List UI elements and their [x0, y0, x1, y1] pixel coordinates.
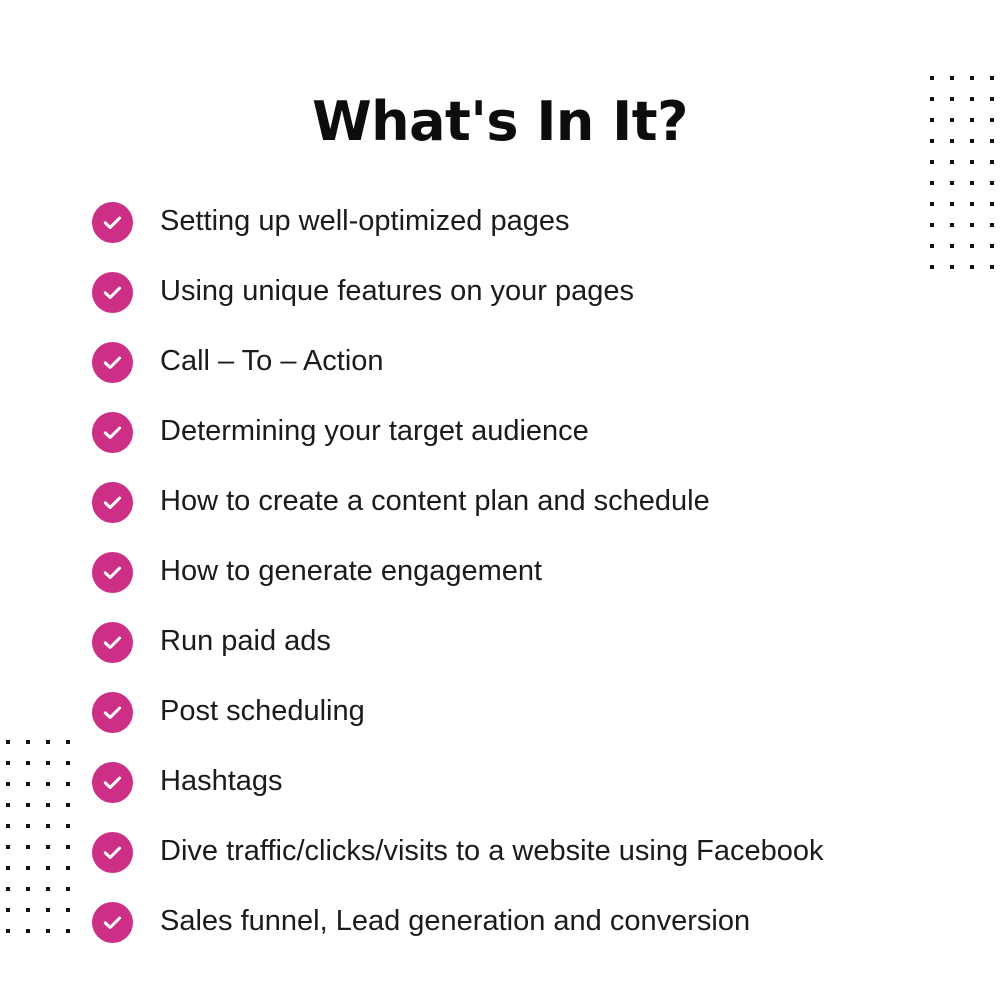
checklist-item: Determining your target audience — [92, 410, 972, 454]
grid-dot — [990, 265, 994, 269]
checklist-item: Hashtags — [92, 760, 972, 804]
grid-dot — [950, 97, 954, 101]
grid-dot — [6, 740, 10, 744]
checklist-item: How to generate engagement — [92, 550, 972, 594]
grid-dot — [66, 866, 70, 870]
grid-dot — [990, 223, 994, 227]
check-circle-icon — [92, 622, 133, 663]
checklist-item: Sales funnel, Lead generation and conver… — [92, 900, 972, 944]
grid-dot — [970, 97, 974, 101]
checklist-item-label: Sales funnel, Lead generation and conver… — [160, 906, 750, 938]
checklist-item: Setting up well-optimized pages — [92, 200, 972, 244]
grid-dot — [930, 265, 934, 269]
checklist-item: Call – To – Action — [92, 340, 972, 384]
grid-dot — [66, 761, 70, 765]
grid-dot — [26, 740, 30, 744]
grid-dot — [66, 782, 70, 786]
checklist-item-label: Post scheduling — [160, 696, 365, 728]
grid-dot — [950, 223, 954, 227]
grid-dot — [930, 181, 934, 185]
grid-dot — [950, 181, 954, 185]
grid-dot — [970, 265, 974, 269]
grid-dot — [46, 782, 50, 786]
check-circle-icon — [92, 272, 133, 313]
grid-dot — [66, 887, 70, 891]
grid-dot — [990, 244, 994, 248]
grid-dot — [990, 76, 994, 80]
check-circle-icon — [92, 692, 133, 733]
grid-dot — [26, 845, 30, 849]
checklist-item-label: How to generate engagement — [160, 556, 542, 588]
grid-dot — [6, 803, 10, 807]
grid-dot — [26, 761, 30, 765]
grid-dot — [66, 929, 70, 933]
grid-dot — [26, 866, 30, 870]
grid-dot — [970, 139, 974, 143]
grid-dot — [66, 803, 70, 807]
grid-dot — [6, 887, 10, 891]
grid-dot — [6, 761, 10, 765]
grid-dot — [46, 740, 50, 744]
grid-dot — [26, 908, 30, 912]
grid-dot — [990, 97, 994, 101]
grid-dot — [970, 118, 974, 122]
grid-dot — [930, 244, 934, 248]
grid-dot — [46, 887, 50, 891]
grid-dot — [26, 803, 30, 807]
grid-dot — [930, 97, 934, 101]
grid-dot — [950, 160, 954, 164]
checklist-item-label: How to create a content plan and schedul… — [160, 486, 710, 518]
grid-dot — [930, 223, 934, 227]
grid-dot — [46, 866, 50, 870]
checklist-item-label: Using unique features on your pages — [160, 276, 634, 308]
grid-dot — [6, 866, 10, 870]
grid-dot — [990, 181, 994, 185]
check-circle-icon — [92, 482, 133, 523]
dot-grid-bottom-left — [6, 740, 86, 950]
check-circle-icon — [92, 412, 133, 453]
dot-grid-top-right — [930, 76, 1000, 286]
grid-dot — [66, 845, 70, 849]
grid-dot — [6, 908, 10, 912]
grid-dot — [930, 202, 934, 206]
grid-dot — [970, 181, 974, 185]
check-circle-icon — [92, 202, 133, 243]
checklist-item: Post scheduling — [92, 690, 972, 734]
grid-dot — [950, 139, 954, 143]
grid-dot — [990, 139, 994, 143]
grid-dot — [950, 202, 954, 206]
slide-canvas: What's In It? Setting up well-optimized … — [0, 0, 1000, 1000]
grid-dot — [970, 160, 974, 164]
checklist-item-label: Dive traffic/clicks/visits to a website … — [160, 836, 824, 868]
grid-dot — [990, 160, 994, 164]
checklist-item-label: Call – To – Action — [160, 346, 384, 378]
checklist: Setting up well-optimized pagesUsing uni… — [92, 200, 972, 944]
grid-dot — [66, 908, 70, 912]
checklist-item-label: Hashtags — [160, 766, 283, 798]
grid-dot — [6, 929, 10, 933]
grid-dot — [950, 244, 954, 248]
grid-dot — [46, 803, 50, 807]
grid-dot — [26, 824, 30, 828]
grid-dot — [26, 887, 30, 891]
checklist-item-label: Run paid ads — [160, 626, 331, 658]
grid-dot — [66, 740, 70, 744]
checklist-item: Run paid ads — [92, 620, 972, 664]
grid-dot — [46, 824, 50, 828]
checklist-item: How to create a content plan and schedul… — [92, 480, 972, 524]
grid-dot — [970, 223, 974, 227]
grid-dot — [66, 824, 70, 828]
grid-dot — [990, 118, 994, 122]
checklist-item-label: Determining your target audience — [160, 416, 589, 448]
grid-dot — [930, 160, 934, 164]
check-circle-icon — [92, 902, 133, 943]
grid-dot — [990, 202, 994, 206]
grid-dot — [26, 782, 30, 786]
grid-dot — [46, 908, 50, 912]
grid-dot — [6, 782, 10, 786]
grid-dot — [26, 929, 30, 933]
grid-dot — [970, 76, 974, 80]
grid-dot — [950, 265, 954, 269]
grid-dot — [950, 76, 954, 80]
grid-dot — [970, 202, 974, 206]
grid-dot — [950, 118, 954, 122]
check-circle-icon — [92, 832, 133, 873]
grid-dot — [930, 139, 934, 143]
page-title: What's In It? — [0, 91, 1000, 153]
grid-dot — [930, 76, 934, 80]
grid-dot — [46, 761, 50, 765]
checklist-item: Using unique features on your pages — [92, 270, 972, 314]
check-circle-icon — [92, 762, 133, 803]
checklist-item-label: Setting up well-optimized pages — [160, 206, 569, 238]
checklist-item: Dive traffic/clicks/visits to a website … — [92, 830, 972, 874]
grid-dot — [6, 845, 10, 849]
check-circle-icon — [92, 552, 133, 593]
check-circle-icon — [92, 342, 133, 383]
grid-dot — [46, 845, 50, 849]
grid-dot — [6, 824, 10, 828]
grid-dot — [930, 118, 934, 122]
grid-dot — [970, 244, 974, 248]
grid-dot — [46, 929, 50, 933]
